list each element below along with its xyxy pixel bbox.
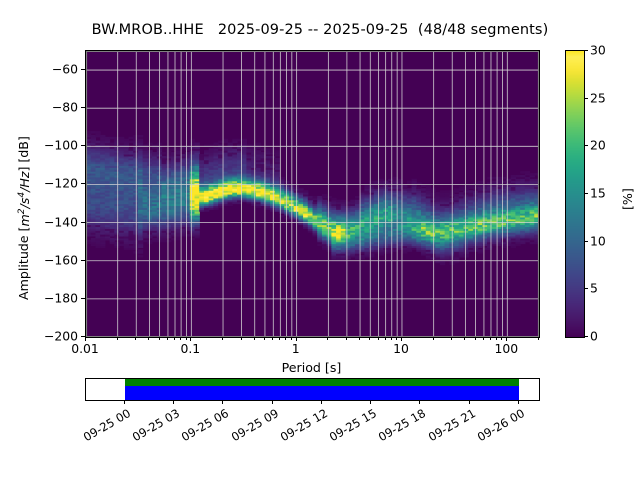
x-tick-label: 0.1 (180, 341, 200, 356)
plot-title: BW.MROB..HHE 2025-09-25 -- 2025-09-25 (4… (0, 22, 640, 38)
y-tick-label: −80 (52, 100, 78, 115)
y-tick-mark (81, 69, 85, 70)
time-tick-mark (518, 400, 519, 404)
y-tick-mark (81, 260, 85, 261)
x-tick-mark (148, 337, 149, 340)
colorbar-tick-label: 20 (590, 138, 606, 153)
colorbar-tick-label: 10 (590, 233, 606, 248)
y-tick-label: −60 (52, 62, 78, 77)
x-tick-mark (241, 337, 242, 340)
time-tick-mark (469, 400, 470, 404)
coverage-segment-blue-band (125, 386, 519, 400)
coverage-segment-green-band (125, 379, 519, 386)
time-tick-mark (321, 400, 322, 404)
x-axis-label: Period [s] (85, 360, 538, 375)
data-coverage-axes[interactable] (85, 378, 540, 401)
ppsd-figure: BW.MROB..HHE 2025-09-25 -- 2025-09-25 (4… (0, 0, 640, 480)
colorbar-tick-mark (584, 193, 588, 194)
x-tick-mark (451, 337, 452, 340)
x-tick-mark (464, 337, 465, 340)
x-tick-mark (272, 337, 273, 340)
x-tick-mark (385, 337, 386, 340)
x-tick-mark (159, 337, 160, 340)
x-tick-mark (346, 337, 347, 340)
x-tick-mark (180, 337, 181, 340)
colorbar-tick-label: 15 (590, 186, 606, 201)
x-tick-label: 0.01 (71, 341, 99, 356)
time-tick-mark (419, 400, 420, 404)
x-tick-mark (285, 337, 286, 340)
x-tick-mark (396, 337, 397, 340)
colorbar-gradient (566, 51, 584, 337)
x-tick-mark (254, 337, 255, 340)
y-tick-mark (81, 298, 85, 299)
y-axis-label: Amplitude [m2/s4/Hz] [dB] (16, 136, 32, 300)
colorbar-tick-mark (584, 288, 588, 289)
x-tick-mark (117, 337, 118, 340)
y-tick-label: −100 (44, 138, 78, 153)
colorbar-tick-label: 25 (590, 90, 606, 105)
y-tick-label: −160 (44, 252, 78, 267)
x-tick-mark (135, 337, 136, 340)
x-tick-mark (490, 337, 491, 340)
time-tick-mark (370, 400, 371, 404)
x-tick-mark (291, 337, 292, 340)
y-tick-mark (81, 222, 85, 223)
x-tick-mark (186, 337, 187, 340)
colorbar-tick-mark (584, 241, 588, 242)
x-tick-mark (483, 337, 484, 340)
x-tick-label: 100 (494, 341, 518, 356)
x-tick-mark (327, 337, 328, 340)
time-tick-mark (173, 400, 174, 404)
colorbar[interactable] (565, 50, 585, 338)
y-tick-mark (81, 107, 85, 108)
y-tick-mark (81, 145, 85, 146)
colorbar-tick-label: 5 (590, 281, 598, 296)
x-tick-mark (174, 337, 175, 340)
x-tick-mark (433, 337, 434, 340)
colorbar-tick-label: 30 (590, 43, 606, 58)
colorbar-tick-mark (584, 98, 588, 99)
colorbar-tick-mark (584, 336, 588, 337)
ppsd-axes[interactable] (85, 50, 540, 338)
y-tick-label: −140 (44, 214, 78, 229)
colorbar-tick-label: 0 (590, 329, 598, 344)
x-tick-mark (222, 337, 223, 340)
y-tick-label: −120 (44, 176, 78, 191)
x-tick-mark (391, 337, 392, 340)
x-tick-mark (538, 337, 539, 340)
x-tick-mark (378, 337, 379, 340)
time-tick-mark (124, 400, 125, 404)
colorbar-label: [%] (620, 188, 635, 210)
time-tick-mark (272, 400, 273, 404)
x-tick-label: 1 (292, 341, 300, 356)
x-tick-mark (167, 337, 168, 340)
x-tick-mark (496, 337, 497, 340)
x-tick-mark (501, 337, 502, 340)
y-tick-label: −180 (44, 290, 78, 305)
time-tick-mark (222, 400, 223, 404)
colorbar-tick-mark (584, 145, 588, 146)
x-tick-mark (475, 337, 476, 340)
x-tick-mark (369, 337, 370, 340)
peterson-noise-model-curves (86, 51, 539, 337)
colorbar-tick-mark (584, 50, 588, 51)
x-tick-mark (359, 337, 360, 340)
x-tick-label: 10 (393, 341, 409, 356)
y-tick-mark (81, 183, 85, 184)
x-tick-mark (264, 337, 265, 340)
x-tick-mark (279, 337, 280, 340)
